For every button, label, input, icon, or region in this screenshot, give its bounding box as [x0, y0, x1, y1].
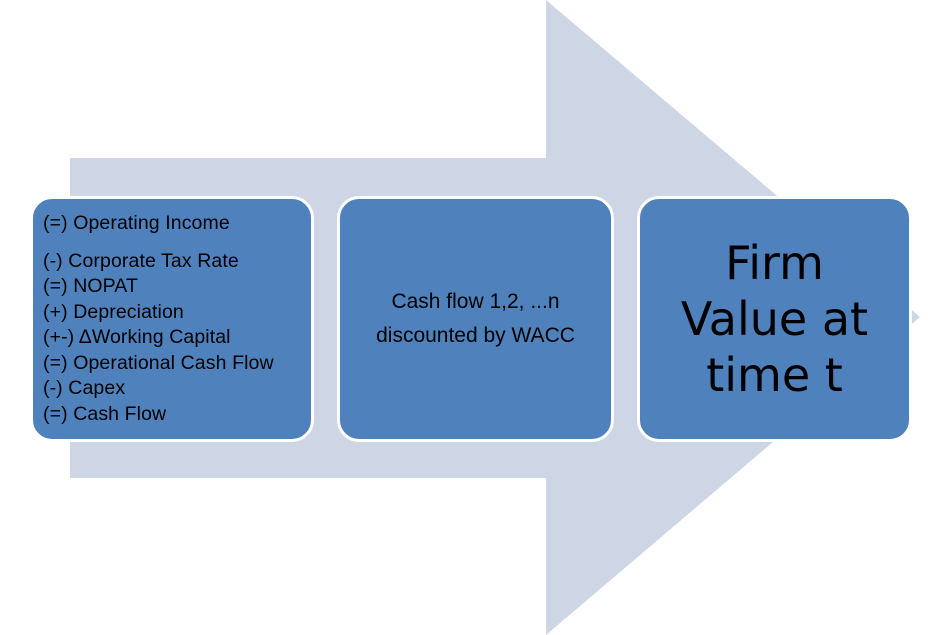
line-operating-income: (=) Operating Income: [43, 211, 301, 237]
line-depreciation: (+) Depreciation: [43, 300, 301, 326]
cash-flow-line-list: Cash flow 1,2, ...n discounted by WACC: [340, 285, 611, 353]
line-capex: (-) Capex: [43, 376, 301, 402]
stage-box-cash-flow-discount[interactable]: Cash flow 1,2, ...n discounted by WACC: [337, 196, 614, 442]
stage-box-firm-value[interactable]: Firm Value at time t: [637, 196, 912, 442]
stage-box-operating-income[interactable]: (=) Operating Income (-) Corporate Tax R…: [30, 196, 314, 442]
line-corporate-tax-rate: (-) Corporate Tax Rate: [43, 249, 301, 275]
line-operational-cash-flow: (=) Operational Cash Flow: [43, 351, 301, 377]
line-firm: Firm: [640, 235, 909, 291]
line-cash-flow: (=) Cash Flow: [43, 402, 301, 428]
line-value-at: Value at: [640, 291, 909, 347]
line-working-capital: (+-) ΔWorking Capital: [43, 325, 301, 351]
firm-value-line-list: Firm Value at time t: [640, 235, 909, 403]
operating-income-line-list: (=) Operating Income (-) Corporate Tax R…: [43, 211, 301, 427]
diagram-canvas: (=) Operating Income (-) Corporate Tax R…: [0, 0, 934, 635]
line-cash-flow-periods: Cash flow 1,2, ...n: [340, 285, 611, 319]
line-time-t: time t: [640, 347, 909, 403]
line-nopat: (=) NOPAT: [43, 274, 301, 300]
line-discounted-by-wacc: discounted by WACC: [340, 319, 611, 353]
